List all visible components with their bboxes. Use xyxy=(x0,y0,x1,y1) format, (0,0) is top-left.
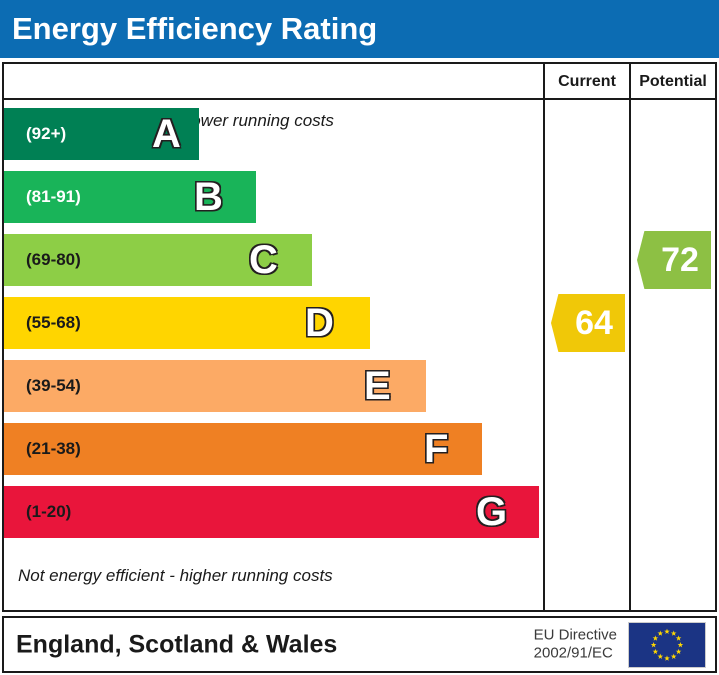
band-range-label: (55-68) xyxy=(26,313,81,333)
page-title: Energy Efficiency Rating xyxy=(12,11,377,47)
energy-efficiency-rating-chart: Energy Efficiency Rating Current Potenti… xyxy=(0,0,719,675)
rating-arrow-potential: 72 xyxy=(637,231,711,289)
bands-area: Very energy efficient - lower running co… xyxy=(4,100,543,610)
band-letter-b: B xyxy=(194,177,223,217)
column-divider-current xyxy=(543,100,545,610)
band-range-label: (81-91) xyxy=(26,187,81,207)
band-letter-f: F xyxy=(424,429,448,469)
band-range-label: (39-54) xyxy=(26,376,81,396)
band-letter-d: D xyxy=(305,303,334,343)
caption-inefficient: Not energy efficient - higher running co… xyxy=(18,562,333,590)
eu-directive-text: EU Directive 2002/91/EC xyxy=(534,626,617,664)
band-bar-d: (55-68)D xyxy=(4,297,370,349)
eu-directive-line2: 2002/91/EC xyxy=(534,645,617,664)
column-divider-potential xyxy=(629,100,631,610)
band-bar-g: (1-20)G xyxy=(4,486,539,538)
band-bar-b: (81-91)B xyxy=(4,171,256,223)
band-range-label: (1-20) xyxy=(26,502,71,522)
band-range-label: (69-80) xyxy=(26,250,81,270)
rating-arrow-current: 64 xyxy=(551,294,625,352)
eu-flag-icon xyxy=(628,622,706,668)
chart-title-bar: Energy Efficiency Rating xyxy=(0,0,719,58)
rating-value-potential: 72 xyxy=(649,243,699,277)
band-letter-c: C xyxy=(249,240,278,280)
eu-directive-line1: EU Directive xyxy=(534,626,617,645)
band-letter-e: E xyxy=(364,366,391,406)
band-range-label: (92+) xyxy=(26,124,66,144)
footer-bar: England, Scotland & Wales EU Directive 2… xyxy=(2,616,717,673)
rating-value-current: 64 xyxy=(563,306,613,340)
column-header-row: Current Potential xyxy=(4,64,715,100)
band-letter-g: G xyxy=(476,492,507,532)
band-bar-f: (21-38)F xyxy=(4,423,482,475)
column-header-potential: Potential xyxy=(629,64,715,100)
rating-table: Current Potential Very energy efficient … xyxy=(2,62,717,612)
footer-region-label: England, Scotland & Wales xyxy=(16,630,337,659)
column-header-current: Current xyxy=(543,64,629,100)
band-bar-c: (69-80)C xyxy=(4,234,312,286)
band-bar-e: (39-54)E xyxy=(4,360,426,412)
band-letter-a: A xyxy=(152,114,181,154)
band-bar-a: (92+)A xyxy=(4,108,199,160)
band-range-label: (21-38) xyxy=(26,439,81,459)
